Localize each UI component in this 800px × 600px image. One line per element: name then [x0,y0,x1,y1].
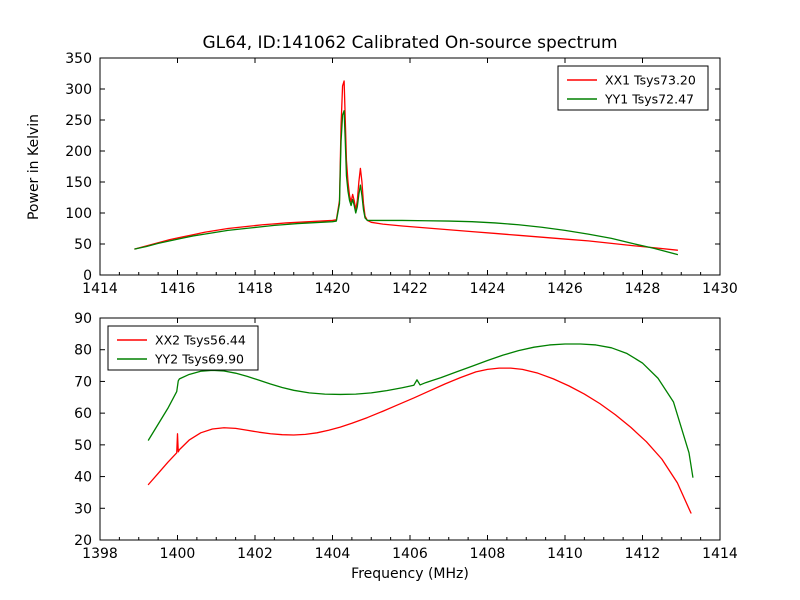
x-tick-label: 1420 [315,281,351,297]
x-tick-label: 1408 [470,546,506,562]
spectrum-plot: GL64, ID:141062 Calibrated On-source spe… [0,0,800,600]
x-tick-label: 1406 [392,546,428,562]
y-tick-label: 20 [74,533,92,549]
x-tick-label: 1422 [392,281,428,297]
y-tick-label: 80 [74,343,92,359]
y-tick-label: 350 [65,51,92,67]
y-tick-label: 50 [74,438,92,454]
y-tick-label: 150 [65,175,92,191]
x-tick-label: 1412 [625,546,661,562]
y-tick-label: 200 [65,144,92,160]
legend-label: XX2 Tsys56.44 [155,333,246,348]
y-axis-label: Power in Kelvin [26,114,42,220]
y-tick-label: 0 [83,268,92,284]
y-tick-label: 30 [74,501,92,517]
x-tick-label: 1428 [625,281,661,297]
y-tick-label: 100 [65,206,92,222]
y-tick-label: 250 [65,113,92,129]
x-tick-label: 1400 [160,546,196,562]
x-tick-label: 1414 [702,546,738,562]
x-axis-label: Frequency (MHz) [351,566,469,582]
x-tick-label: 1410 [547,546,583,562]
legend: XX1 Tsys73.20YY1 Tsys72.47 [558,66,708,110]
page-title: GL64, ID:141062 Calibrated On-source spe… [202,33,617,53]
y-tick-label: 60 [74,406,92,422]
x-tick-label: 1418 [237,281,273,297]
x-tick-label: 1404 [315,546,351,562]
x-tick-label: 1424 [470,281,506,297]
legend-label: YY2 Tsys69.90 [154,352,244,367]
x-tick-label: 1430 [702,281,738,297]
matplotlib-figure: GL64, ID:141062 Calibrated On-source spe… [0,0,800,600]
x-tick-label: 1416 [160,281,196,297]
x-tick-label: 1426 [547,281,583,297]
y-tick-label: 70 [74,374,92,390]
legend-label: YY1 Tsys72.47 [604,92,694,107]
y-tick-label: 300 [65,82,92,98]
y-tick-label: 90 [74,311,92,327]
y-tick-label: 50 [74,237,92,253]
x-tick-label: 1402 [237,546,273,562]
legend: XX2 Tsys56.44YY2 Tsys69.90 [108,326,258,370]
legend-label: XX1 Tsys73.20 [605,73,696,88]
y-tick-label: 40 [74,470,92,486]
